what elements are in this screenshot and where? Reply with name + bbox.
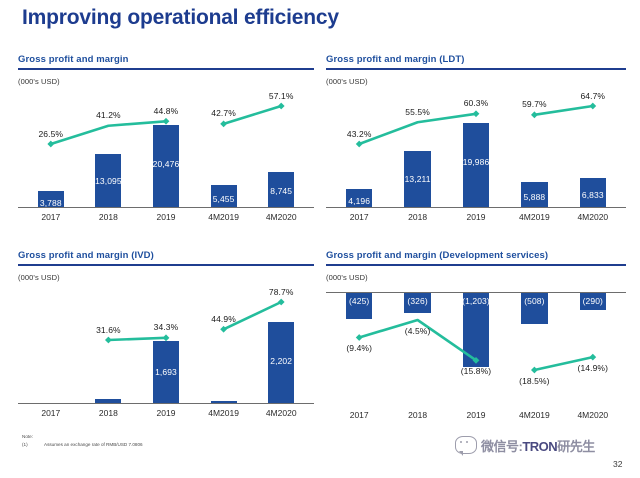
margin-line-marker bbox=[278, 298, 285, 305]
x-tick-label: 4M2020 bbox=[577, 212, 608, 222]
bar-value-label: 4,196 bbox=[338, 196, 380, 206]
bar-value-label: 8,745 bbox=[260, 186, 302, 196]
x-tick-label: 4M2020 bbox=[577, 410, 608, 420]
bar-value-label: 1,693 bbox=[145, 367, 187, 377]
bar-value-label: 5,455 bbox=[203, 194, 245, 204]
wechat-icon bbox=[455, 436, 477, 454]
chart-panel-gross-profit-ldt: Gross profit and margin (LDT) (000's USD… bbox=[326, 54, 626, 234]
chart-panel-gross-profit-total: Gross profit and margin (000's USD) 3,78… bbox=[18, 54, 314, 234]
bar-value-label: (290) bbox=[572, 296, 614, 306]
watermark-brand: TRON bbox=[522, 439, 557, 454]
x-tick-label: 2019 bbox=[467, 212, 486, 222]
panel-divider bbox=[18, 68, 314, 70]
bar-value-label: 13,211 bbox=[396, 174, 438, 184]
x-tick-label: 2017 bbox=[350, 410, 369, 420]
x-tick-label: 2018 bbox=[408, 410, 427, 420]
margin-line-segment bbox=[108, 337, 166, 339]
panel-unit-label: (000's USD) bbox=[326, 77, 626, 86]
bar-value-label: 6,833 bbox=[572, 190, 614, 200]
panel-title: Gross profit and margin (IVD) bbox=[18, 250, 314, 261]
page-number: 32 bbox=[613, 459, 622, 469]
slide-root: Improving operational efficiency Gross p… bbox=[0, 0, 640, 478]
watermark-prefix: 微信号: bbox=[481, 439, 522, 454]
x-axis: 2017201820194M20194M2020 bbox=[326, 210, 626, 226]
margin-value-label: (9.4%) bbox=[325, 343, 393, 353]
x-tick-label: 2019 bbox=[157, 408, 176, 418]
margin-value-label: (18.5%) bbox=[500, 376, 568, 386]
bar-value-label: (508) bbox=[513, 296, 555, 306]
bar-4M2019 bbox=[211, 401, 237, 402]
margin-value-label: 44.9% bbox=[190, 314, 258, 324]
panel-divider bbox=[326, 68, 626, 70]
x-tick-label: 4M2019 bbox=[519, 212, 550, 222]
chart-panel-gross-profit-ivd: Gross profit and margin (IVD) (000's USD… bbox=[18, 250, 314, 430]
bar-value-label: 20,476 bbox=[145, 159, 187, 169]
panel-title: Gross profit and margin (Development ser… bbox=[326, 250, 626, 261]
margin-value-label: (15.8%) bbox=[442, 366, 510, 376]
margin-line-marker bbox=[220, 120, 227, 127]
margin-line-marker bbox=[220, 325, 227, 332]
panel-title: Gross profit and margin (LDT) bbox=[326, 54, 626, 65]
margin-value-label: 59.7% bbox=[500, 99, 568, 109]
margin-line-marker bbox=[47, 140, 54, 147]
x-tick-label: 2017 bbox=[41, 408, 60, 418]
margin-line-marker bbox=[356, 334, 363, 341]
axis-baseline bbox=[18, 403, 314, 404]
margin-line-marker bbox=[356, 140, 363, 147]
margin-line-marker bbox=[163, 117, 170, 124]
x-tick-label: 4M2020 bbox=[266, 408, 297, 418]
margin-value-label: 26.5% bbox=[17, 129, 85, 139]
x-tick-label: 4M2019 bbox=[519, 410, 550, 420]
margin-value-label: (14.9%) bbox=[559, 363, 627, 373]
footnote-text: Assumes an exchange rate of RMB/USD 7.08… bbox=[44, 442, 143, 449]
x-tick-label: 2018 bbox=[99, 212, 118, 222]
panel-title: Gross profit and margin bbox=[18, 54, 314, 65]
bar-value-label: 13,095 bbox=[87, 176, 129, 186]
panel-divider bbox=[18, 264, 314, 266]
x-tick-label: 2019 bbox=[157, 212, 176, 222]
x-tick-label: 2018 bbox=[99, 408, 118, 418]
bar-value-label: (326) bbox=[396, 296, 438, 306]
margin-value-label: 64.7% bbox=[559, 91, 627, 101]
x-axis: 2017201820194M20194M2020 bbox=[326, 408, 626, 424]
margin-line-marker bbox=[105, 336, 112, 343]
axis-baseline bbox=[326, 207, 626, 208]
watermark-text: 微信号:TRON研先生 bbox=[481, 436, 595, 455]
plot-area: (425)(326)(1,203)(508)(290)(9.4%)(4.5%)(… bbox=[326, 286, 626, 406]
bar-value-label: (425) bbox=[338, 296, 380, 306]
margin-line-marker bbox=[589, 353, 596, 360]
bar-value-label: 5,888 bbox=[513, 192, 555, 202]
x-tick-label: 2018 bbox=[408, 212, 427, 222]
panel-unit-label: (000's USD) bbox=[18, 273, 314, 282]
bar-value-label: (1,203) bbox=[455, 296, 497, 306]
bar-value-label: 19,986 bbox=[455, 157, 497, 167]
x-axis: 2017201820194M20194M2020 bbox=[18, 406, 314, 422]
margin-value-label: (4.5%) bbox=[383, 326, 451, 336]
x-tick-label: 4M2020 bbox=[266, 212, 297, 222]
x-tick-label: 2019 bbox=[467, 410, 486, 420]
margin-line-marker bbox=[278, 102, 285, 109]
plot-area: 1,6932,20231.6%34.3%44.9%78.7% bbox=[18, 286, 314, 404]
margin-value-label: 34.3% bbox=[132, 322, 200, 332]
margin-line-marker bbox=[531, 111, 538, 118]
x-tick-label: 4M2019 bbox=[208, 212, 239, 222]
x-tick-label: 2017 bbox=[350, 212, 369, 222]
chart-panel-gross-profit-devservices: Gross profit and margin (Development ser… bbox=[326, 250, 626, 430]
x-tick-label: 4M2019 bbox=[208, 408, 239, 418]
margin-line-marker bbox=[473, 110, 480, 117]
plot-area: 4,19613,21119,9865,8886,83343.2%55.5%60.… bbox=[326, 90, 626, 208]
plot-area: 3,78813,09520,4765,4558,74526.5%41.2%44.… bbox=[18, 90, 314, 208]
watermark-suffix: 研先生 bbox=[557, 439, 595, 454]
panel-unit-label: (000's USD) bbox=[18, 77, 314, 86]
x-tick-label: 2017 bbox=[41, 212, 60, 222]
x-axis: 2017201820194M20194M2020 bbox=[18, 210, 314, 226]
panel-divider bbox=[326, 264, 626, 266]
footnote-heading: Note: bbox=[22, 434, 143, 441]
page-title: Improving operational efficiency bbox=[22, 6, 339, 30]
wechat-watermark: 微信号:TRON研先生 bbox=[455, 432, 625, 458]
margin-value-label: 43.2% bbox=[325, 129, 393, 139]
bar-value-label: 2,202 bbox=[260, 356, 302, 366]
panel-unit-label: (000's USD) bbox=[326, 273, 626, 282]
footnote-row: (1) Assumes an exchange rate of RMB/USD … bbox=[22, 442, 143, 449]
margin-value-label: 57.1% bbox=[247, 91, 315, 101]
bar-value-label: 3,788 bbox=[30, 198, 72, 208]
footnote-block: Note: (1) Assumes an exchange rate of RM… bbox=[22, 434, 143, 449]
bar-2018 bbox=[95, 399, 121, 402]
margin-value-label: 42.7% bbox=[190, 108, 258, 118]
footnote-index: (1) bbox=[22, 442, 34, 449]
margin-value-label: 78.7% bbox=[247, 287, 315, 297]
margin-line-marker bbox=[589, 102, 596, 109]
margin-line-marker bbox=[531, 366, 538, 373]
